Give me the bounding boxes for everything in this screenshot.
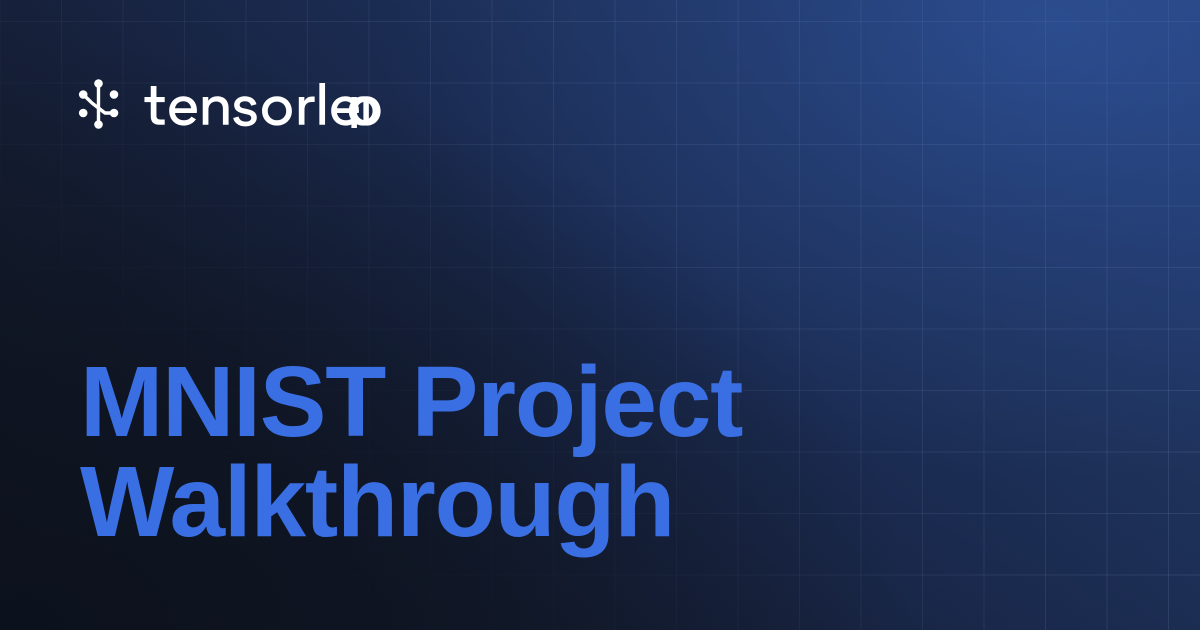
page-title: MNIST Project Walkthrough xyxy=(80,352,940,552)
share-banner: MNIST Project Walkthrough xyxy=(0,0,1200,630)
tensorleap-wordmark xyxy=(144,80,381,128)
tensorleap-mark-icon xyxy=(74,78,124,130)
tensorleap-logo xyxy=(74,78,381,130)
